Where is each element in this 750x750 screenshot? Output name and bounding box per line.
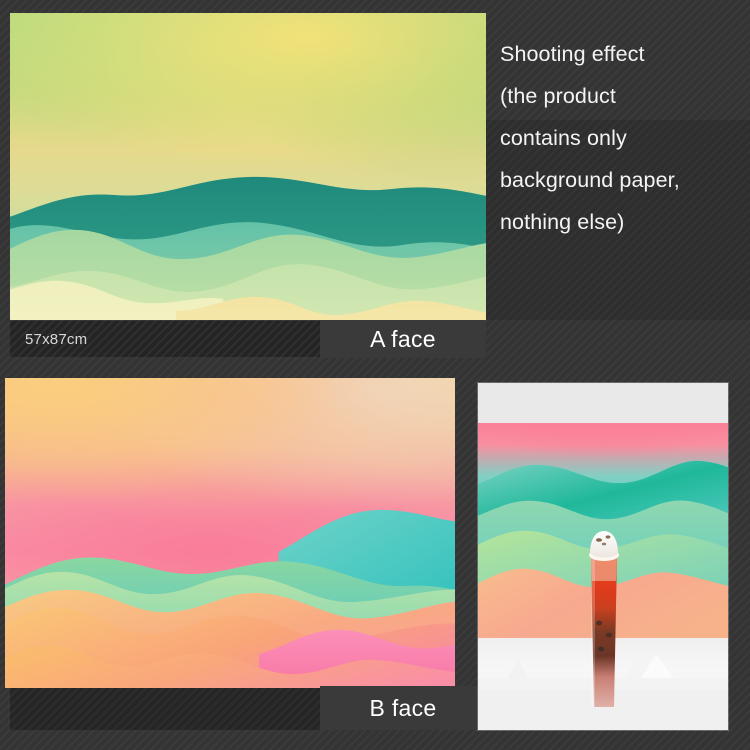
b-face-label-box: B face [320,686,486,730]
a-face-label-box: A face [320,320,486,358]
a-face-photo[interactable] [10,13,486,320]
caption-line-5: nothing else) [500,201,740,243]
a-hill-cream [10,271,486,320]
caption-line-4: background paper, [500,159,740,201]
page-background: 57x87cm A face [0,0,750,750]
parfait-glass [586,531,622,711]
photo-top-band [478,383,728,423]
caption-line-2: (the product [500,75,740,117]
b-face-photo[interactable] [5,378,455,688]
caption-line-1: Shooting effect [500,33,740,75]
a-face-dimension-label: 57x87cm [10,331,87,348]
shooting-effect-photo[interactable] [478,383,728,730]
caption-line-3: contains only [500,117,740,159]
b-hill-foreground [5,630,455,688]
shooting-effect-note: Shooting effect (the product contains on… [500,33,740,243]
a-face-dimension-strip: 57x87cm [10,321,320,357]
b-face-strip [10,688,320,730]
b-face-label: B face [369,695,436,722]
a-face-label: A face [370,326,436,353]
